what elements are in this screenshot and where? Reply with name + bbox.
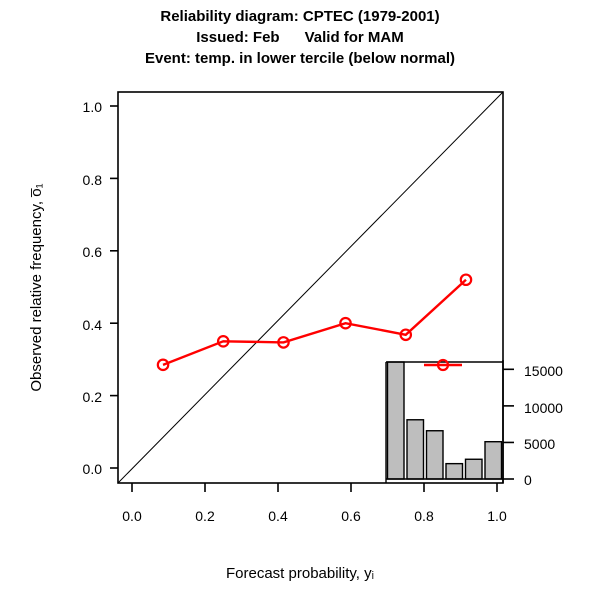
inset-bar [466, 459, 483, 479]
plot-canvas [0, 0, 600, 600]
x-axis-ticks [132, 483, 497, 492]
inset-bar [446, 464, 463, 479]
inset-y-axis-ticks [503, 369, 514, 479]
reliability-diagram-figure: Reliability diagram: CPTEC (1979-2001) I… [0, 0, 600, 600]
reliability-curve-line [163, 280, 466, 365]
inset-histogram [386, 360, 514, 483]
inset-bar [407, 420, 424, 479]
y-axis-ticks [110, 106, 118, 468]
reliability-curve-markers [158, 275, 471, 370]
inset-bar [485, 442, 502, 479]
inset-bar-group [388, 362, 502, 479]
inset-bar [388, 362, 405, 479]
inset-bar [427, 431, 444, 479]
reference-diagonal-line [118, 92, 503, 483]
